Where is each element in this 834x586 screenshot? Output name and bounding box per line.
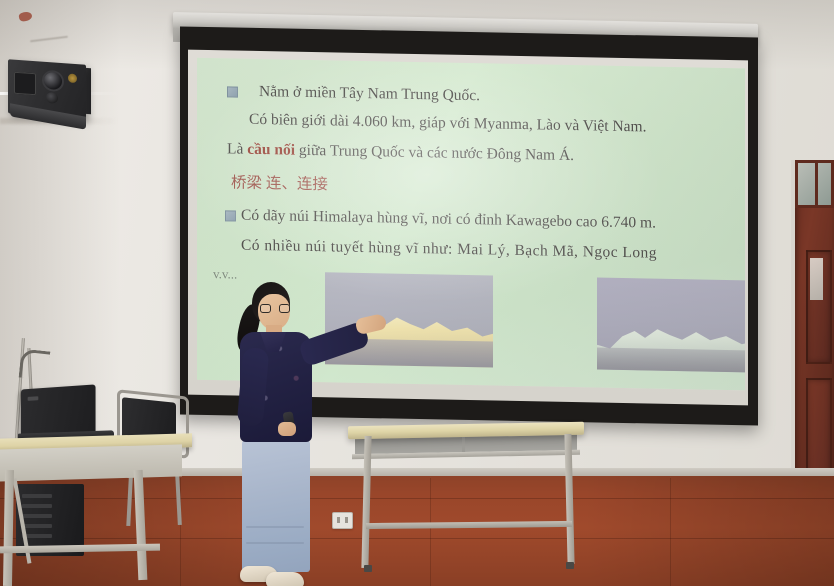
computer-vent-icon <box>22 494 52 498</box>
bullet-marker-icon <box>225 210 236 221</box>
presenter-trousers <box>242 438 310 572</box>
trouser-fold <box>246 542 304 544</box>
slide-photo-right <box>597 277 745 372</box>
mic-arm <box>19 349 51 381</box>
floor-reflection <box>0 474 834 586</box>
slide-line-3-suffix: giữa Trung Quốc và các nước Đông Nam Á. <box>295 142 574 164</box>
bullet-marker-icon <box>227 86 238 97</box>
presenter <box>222 280 382 586</box>
speaker-led-icon <box>68 73 77 83</box>
computer-vent-icon <box>22 514 52 518</box>
slide-line-3-prefix: Là <box>227 140 247 157</box>
speaker-tweeter-icon <box>46 92 58 104</box>
laptop-screen <box>21 384 96 436</box>
door-glass <box>810 258 823 300</box>
speaker-driver-icon <box>44 72 62 90</box>
speaker-grille-icon <box>14 72 36 96</box>
glasses-icon <box>260 304 290 313</box>
classroom-photo: Nằm ở miền Tây Nam Trung Quốc. Có biên g… <box>0 0 834 586</box>
presenter-left-hand <box>278 422 296 436</box>
front-table-foot-cap <box>566 562 574 569</box>
slide-line-2: Có biên giới dài 4.060 km, giáp với Myan… <box>249 111 646 137</box>
laptop-logo-icon <box>28 396 39 401</box>
mountain-foreground <box>597 347 745 372</box>
slide-line-1: Nằm ở miền Tây Nam Trung Quốc. <box>259 83 480 105</box>
slide-line-6: Có nhiều núi tuyết hùng vĩ như: Mai Lý, … <box>241 237 657 263</box>
slide-line-4-chinese: 桥梁 连、连接 <box>231 170 328 194</box>
teacher-desk-apron <box>0 444 182 481</box>
slide-line-5: Có dãy núi Himalaya hùng vĩ, nơi có đỉnh… <box>241 207 656 233</box>
trouser-fold <box>246 526 304 528</box>
door-transom-window <box>795 160 834 208</box>
slide-line-3-highlight: cầu nối <box>247 141 295 159</box>
front-table-shelf-divider <box>462 436 465 452</box>
presenter-shoe <box>266 572 304 586</box>
computer-vent-icon <box>22 504 52 508</box>
computer-vent-icon <box>22 524 52 528</box>
slide-line-3: Là cầu nối giữa Trung Quốc và các nước Đ… <box>227 140 574 165</box>
